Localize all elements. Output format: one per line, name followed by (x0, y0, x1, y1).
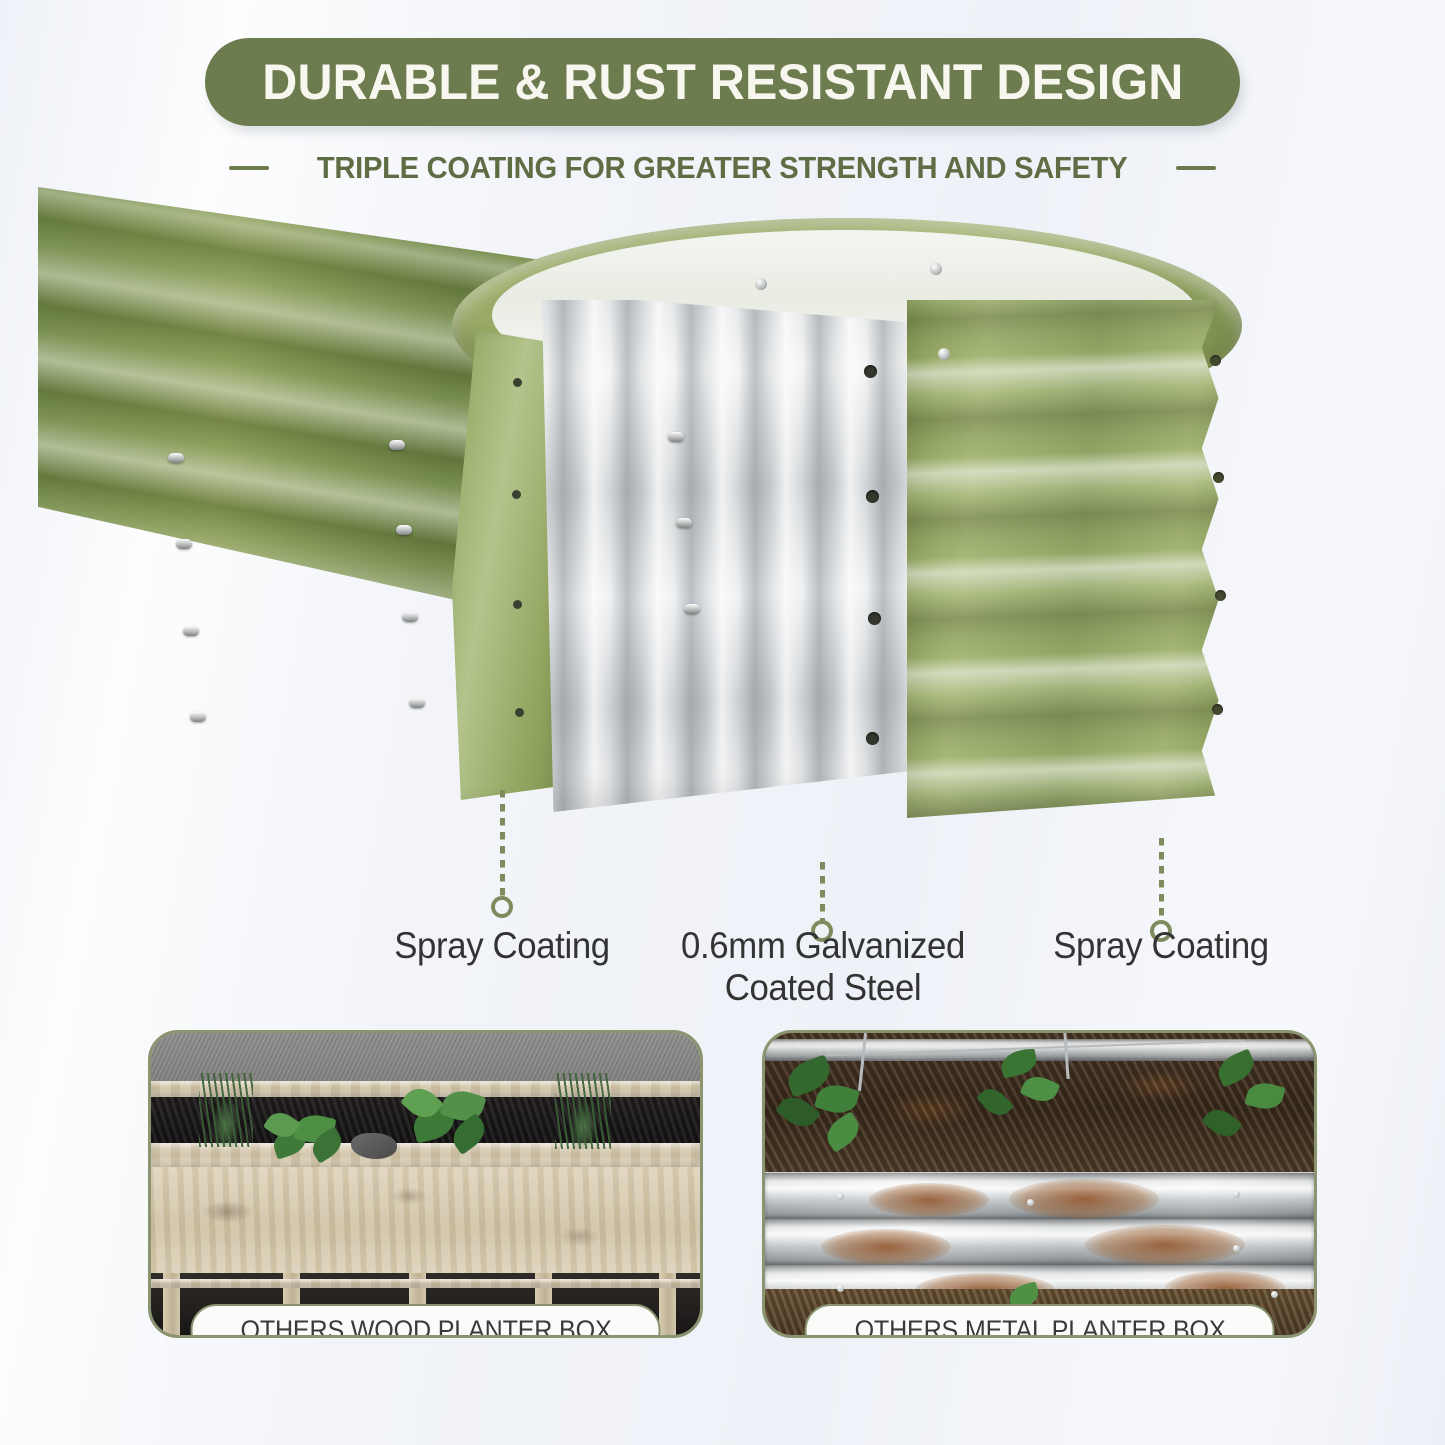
panel-screw (396, 525, 412, 535)
screw-hole (868, 612, 881, 625)
comparison-section: OTHERS WOOD PLANTER BOX (0, 1022, 1445, 1402)
screw-hole (866, 732, 879, 745)
screw-hole (515, 708, 524, 717)
comparison-card-wood: OTHERS WOOD PLANTER BOX (148, 1030, 703, 1338)
metal-rivet (1271, 1291, 1278, 1298)
panel-screw (402, 612, 418, 622)
panel-screw (676, 518, 692, 528)
screw-hole (866, 490, 879, 503)
screw-hole (864, 365, 877, 378)
metal-rivet (1233, 1245, 1240, 1252)
screw-hole (1210, 355, 1221, 366)
rosemary-plant (555, 1073, 611, 1149)
panel-screw (176, 539, 192, 549)
panel-screw (190, 712, 206, 722)
metal-rivet (1233, 1191, 1240, 1198)
callout-label-line1: 0.6mm Galvanized (681, 925, 965, 966)
panel-screw (168, 453, 184, 463)
panel-screw (755, 278, 767, 290)
planter-bottom-rail (151, 1279, 700, 1288)
panel-screw (668, 432, 684, 442)
screw-hole (513, 600, 522, 609)
screw-hole (513, 378, 522, 387)
callout-leader-line-left (500, 790, 505, 900)
screw-hole (1213, 472, 1224, 483)
callout-label-galvanized-steel: 0.6mm Galvanized Coated Steel (659, 925, 988, 1009)
callout-marker-left (491, 896, 513, 918)
caption-metal-text: OTHERS METAL PLANTER BOX (854, 1315, 1225, 1338)
panel-screw (684, 604, 700, 614)
metal-rivet (837, 1193, 844, 1200)
caption-wood-planter: OTHERS WOOD PLANTER BOX (190, 1304, 661, 1338)
metal-rivet (1027, 1199, 1034, 1206)
comparison-card-metal: OTHERS METAL PLANTER BOX (762, 1030, 1317, 1338)
rosemary-plant (199, 1073, 253, 1147)
metal-rivet (837, 1285, 844, 1292)
screw-hole (1215, 590, 1226, 601)
screw-hole (512, 490, 521, 499)
panel-screw (938, 348, 950, 360)
panel-screw (183, 626, 199, 636)
caption-metal-planter: OTHERS METAL PLANTER BOX (804, 1304, 1275, 1338)
screw-hole (1212, 704, 1223, 715)
callout-leader-line-center (820, 862, 825, 924)
rust-stain (821, 1229, 951, 1265)
planter-wood-face (151, 1167, 700, 1279)
callout-label-spray-coating-left: Spray Coating (361, 925, 643, 967)
callout-leader-line-right (1159, 838, 1164, 924)
rust-stain (1085, 1225, 1245, 1265)
caption-wood-text: OTHERS WOOD PLANTER BOX (240, 1315, 611, 1338)
callout-label-spray-coating-right: Spray Coating (1020, 925, 1302, 967)
callout-label-line2: Coated Steel (725, 967, 922, 1008)
rust-stain (869, 1183, 989, 1217)
panel-screw (930, 263, 942, 275)
panel-screw (409, 698, 425, 708)
panel-screw (389, 440, 405, 450)
